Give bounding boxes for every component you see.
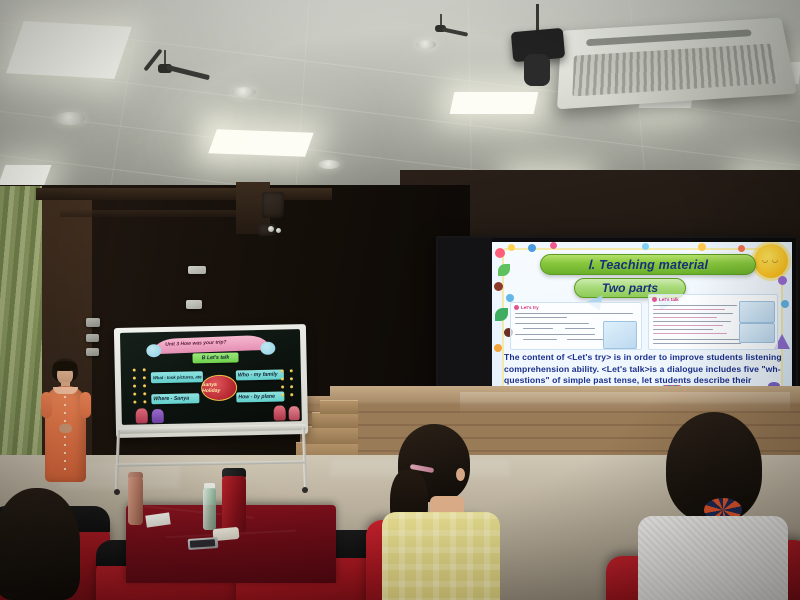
- magnet-dot: [281, 369, 284, 372]
- sun-face: ◡ ◡: [762, 256, 779, 264]
- center-topic-oval: Sanya Holiday: [201, 374, 238, 401]
- magnet-dot: [133, 385, 136, 388]
- teacher-dress-buttons: [64, 396, 66, 472]
- student-ear: [456, 468, 465, 481]
- confetti-decoration: [494, 344, 502, 352]
- ceiling-beam: [36, 188, 332, 200]
- slide-right-panel: Let's talk: [648, 294, 778, 350]
- wall-control-plate[interactable]: [86, 348, 99, 356]
- magnet-dot: [133, 377, 136, 380]
- green-window-curtain: [0, 186, 42, 486]
- ceiling-beam: [60, 210, 248, 217]
- mobile-blackboard[interactable]: Unit 3 How was your trip? B Let's talk W…: [114, 324, 308, 438]
- right-panel-heading: Let's talk: [659, 297, 679, 302]
- wall-control-plate[interactable]: [186, 300, 202, 309]
- paper-figure-decoration: [136, 408, 148, 423]
- red-bottle-sleeve[interactable]: [222, 476, 246, 532]
- water-bottle[interactable]: [203, 488, 216, 530]
- camera-mount-stem: [536, 4, 539, 32]
- confetti-decoration: [495, 248, 505, 258]
- ceiling-fan: [426, 14, 466, 44]
- camera-lens: [524, 54, 550, 86]
- textbook-dialogue-thumbnail: [739, 301, 775, 323]
- textbook-dialogue-thumbnail: [739, 323, 775, 343]
- confetti-decoration: [508, 244, 515, 251]
- blackboard-caster-wheel: [302, 487, 308, 493]
- cloud-decoration: [260, 342, 275, 355]
- paper-figure-decoration: [274, 405, 286, 420]
- smiling-sun-icon: ◡ ◡: [754, 244, 788, 278]
- blackboard-banner: Unit 3 How was your trip?: [153, 334, 269, 354]
- textbook-map-thumbnail: [603, 321, 637, 349]
- magnet-dot: [281, 385, 284, 388]
- student-shirt: [382, 512, 500, 600]
- magnet-dot: [133, 369, 136, 372]
- confetti-decoration: [550, 242, 557, 249]
- student-top: [638, 516, 788, 600]
- slide-title-text: Ⅰ. Teaching material: [588, 257, 708, 272]
- magnet-dot: [143, 368, 146, 371]
- confetti-decoration: [506, 294, 514, 302]
- recessed-led-panel: [450, 92, 539, 114]
- section-card: B Let's talk: [192, 352, 238, 363]
- ceiling-fan: [140, 50, 210, 96]
- magnet-dot: [133, 393, 136, 396]
- stage-floor-reflection: [460, 392, 790, 414]
- blackboard-card-what: What - took pictures, ate seafood: [151, 371, 203, 383]
- wall-control-plate[interactable]: [188, 266, 206, 274]
- confetti-decoration: [738, 245, 745, 252]
- presentation-slide: ◡ ◡ Ⅰ. Teaching materia: [492, 242, 792, 408]
- blackboard-chalk-tray: [118, 424, 306, 434]
- magnet-dot: [281, 393, 284, 396]
- student-dark-foreground[interactable]: [0, 488, 124, 600]
- recessed-downlight: [55, 112, 85, 125]
- student-white-lace[interactable]: [638, 412, 788, 600]
- confetti-decoration: [642, 243, 649, 250]
- wall-knob[interactable]: [276, 228, 281, 233]
- slide-title-banner: Ⅰ. Teaching material: [540, 254, 756, 275]
- confetti-decoration: [778, 276, 787, 285]
- blackboard-card-who: Who - my family: [236, 369, 284, 380]
- slide-left-panel: Let's try: [510, 302, 642, 350]
- banner-arc: Unit 3 How was your trip?: [153, 335, 269, 354]
- cloud-decoration: [146, 344, 161, 357]
- confetti-decoration: [494, 282, 503, 291]
- confetti-decoration: [528, 244, 536, 252]
- confetti-decoration: [698, 243, 706, 251]
- magnet-dot: [290, 393, 293, 396]
- wall-control-plate[interactable]: [86, 318, 100, 327]
- recessed-downlight: [318, 160, 340, 169]
- magnet-dot: [143, 392, 146, 395]
- bullet-dot-icon: [514, 305, 519, 310]
- teacher-fringe: [53, 361, 77, 371]
- teacher-presenting[interactable]: [40, 358, 92, 484]
- magnet-dot: [143, 384, 146, 387]
- magnet-dot: [133, 401, 136, 404]
- student-hair: [0, 488, 80, 600]
- left-panel-heading: Let's try: [521, 305, 539, 310]
- student-yellow-plaid[interactable]: [378, 424, 498, 600]
- classroom-scene: ◡ ◡ Ⅰ. Teaching materia: [0, 0, 800, 600]
- ac-vent: [572, 44, 778, 97]
- banner-text: Unit 3 How was your trip?: [165, 339, 227, 347]
- blackboard-surface: Unit 3 How was your trip? B Let's talk W…: [120, 329, 302, 425]
- magnet-dot: [290, 369, 293, 372]
- teacher-hands: [59, 424, 72, 433]
- confetti-decoration: [781, 300, 789, 308]
- blackboard-card-how: How - by plane: [236, 391, 284, 402]
- slide-subtitle-text: Two parts: [602, 281, 658, 295]
- wall-knob[interactable]: [268, 226, 274, 232]
- wall-control-plate[interactable]: [86, 334, 99, 342]
- magnet-dot: [290, 377, 293, 380]
- magnet-dot: [290, 385, 293, 388]
- ac-intake-slot: [586, 29, 752, 46]
- thermos-flask[interactable]: [128, 477, 143, 525]
- teacher-collar: [53, 387, 78, 394]
- teacher-sleeve-left: [41, 392, 52, 418]
- recessed-led-panel: [6, 21, 132, 79]
- wall-speaker: [262, 192, 284, 218]
- paper-figure-decoration: [152, 409, 164, 423]
- bullet-dot-icon: [652, 297, 657, 302]
- blackboard-card-where: Where - Sanya: [151, 393, 199, 404]
- magnet-dot: [143, 376, 146, 379]
- magnet-dot: [281, 377, 284, 380]
- ceiling-air-conditioner: [557, 18, 797, 110]
- recessed-led-panel: [208, 129, 313, 156]
- paper-figure-decoration: [289, 406, 300, 420]
- magnet-dot: [143, 400, 146, 403]
- recessed-downlight: [232, 87, 256, 97]
- teacher-sleeve-right: [80, 392, 91, 418]
